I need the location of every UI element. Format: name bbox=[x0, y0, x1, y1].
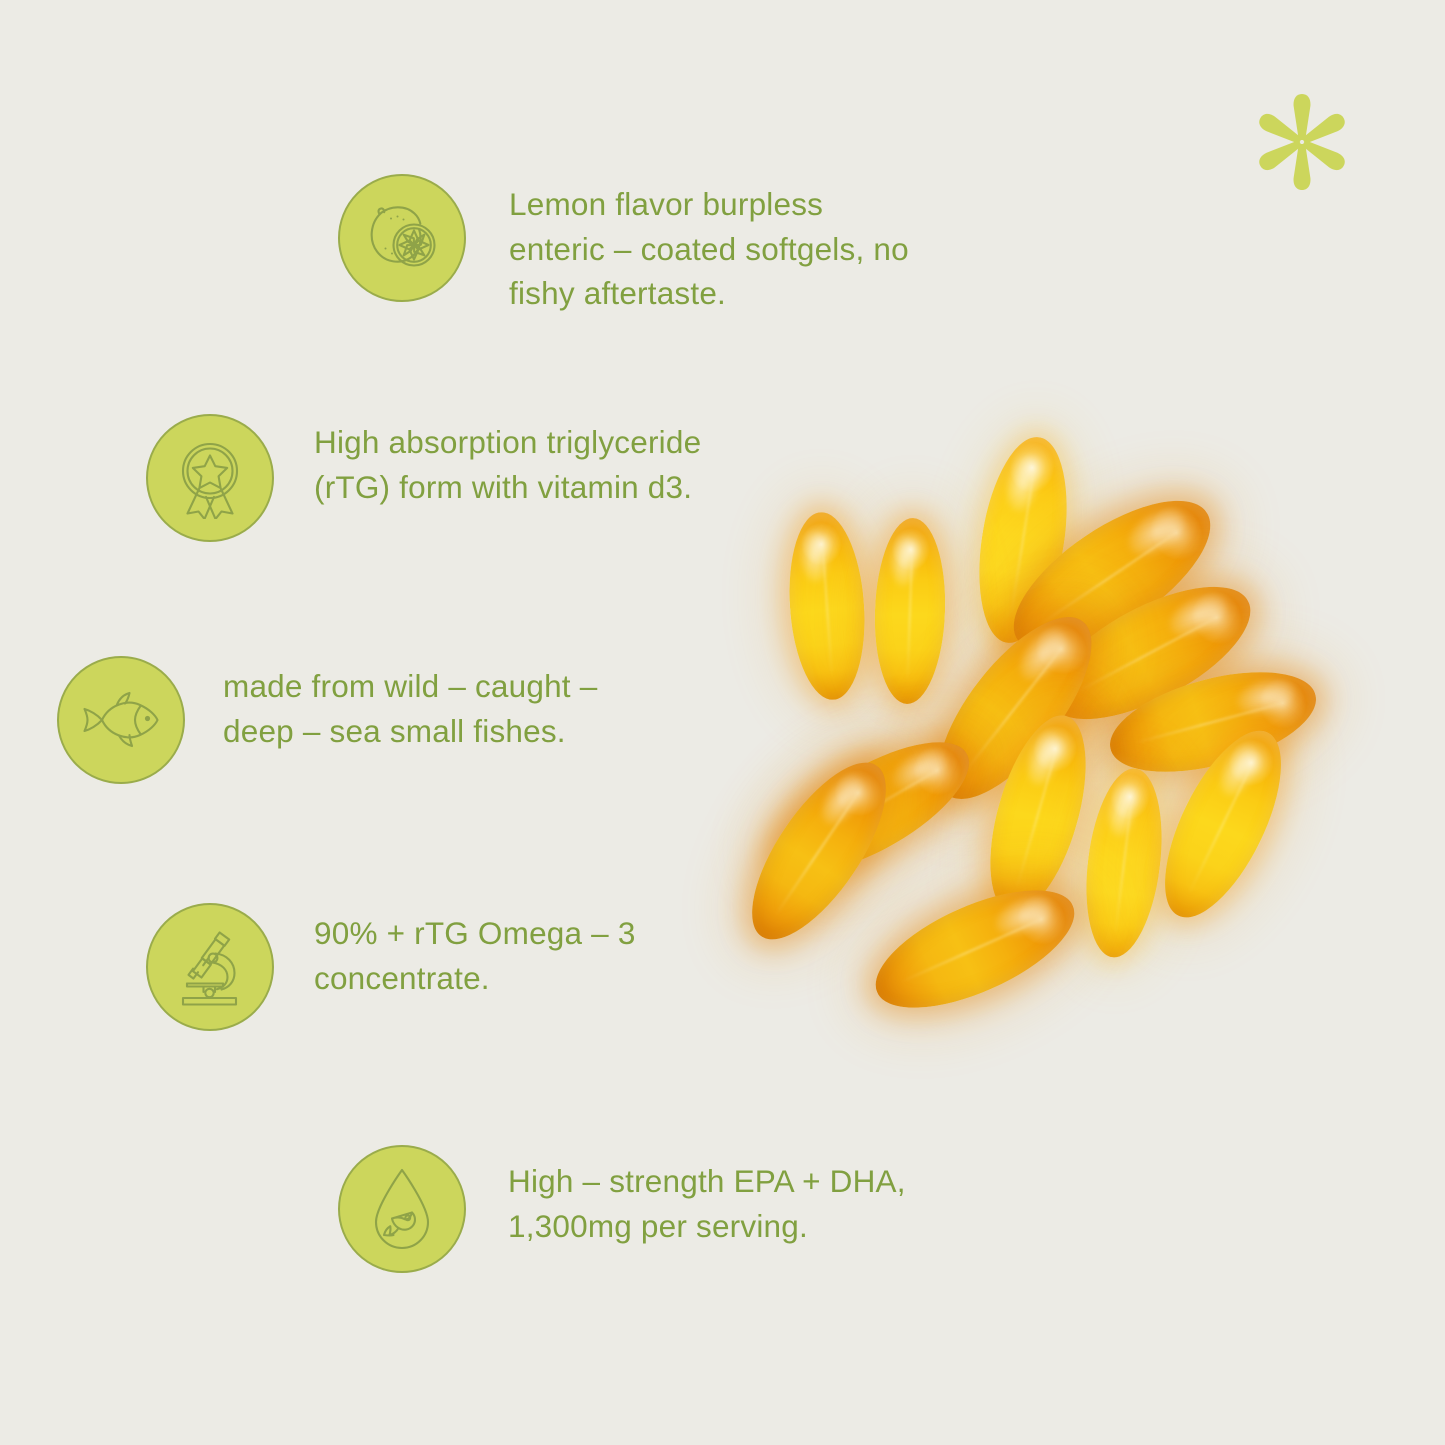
feature-item-epa-dha-strength: High – strength EPA + DHA, 1,300mg per s… bbox=[338, 1145, 906, 1273]
feature-icon-badge bbox=[146, 903, 274, 1031]
feature-icon-badge bbox=[338, 174, 466, 302]
feature-icon-badge bbox=[146, 414, 274, 542]
droplet-fish-icon bbox=[362, 1165, 442, 1253]
feature-label: 90% + rTG Omega – 3 concentrate. bbox=[314, 911, 636, 1000]
feature-item-wild-caught: made from wild – caught – deep – sea sma… bbox=[57, 656, 597, 784]
softgel-capsule bbox=[784, 510, 871, 703]
feature-icon-badge bbox=[57, 656, 185, 784]
feature-label: Lemon flavor burpless enteric – coated s… bbox=[509, 182, 909, 316]
infographic-canvas: Lemon flavor burpless enteric – coated s… bbox=[0, 0, 1445, 1445]
softgel-capsule bbox=[1077, 764, 1172, 961]
lemon-icon bbox=[360, 196, 444, 280]
softgel-capsule bbox=[727, 743, 910, 960]
feature-label: High – strength EPA + DHA, 1,300mg per s… bbox=[508, 1159, 906, 1248]
fish-icon bbox=[77, 682, 165, 758]
feature-label: High absorption triglyceride (rTG) form … bbox=[314, 420, 701, 509]
omega-3-softgel-capsules bbox=[770, 430, 1380, 1030]
softgel-capsule bbox=[872, 517, 948, 705]
feature-item-high-absorption: High absorption triglyceride (rTG) form … bbox=[146, 414, 701, 542]
feature-label: made from wild – caught – deep – sea sma… bbox=[223, 664, 597, 753]
feature-icon-badge bbox=[338, 1145, 466, 1273]
award-medal-icon bbox=[169, 437, 251, 519]
asterisk-flower-icon bbox=[1246, 86, 1358, 198]
feature-item-rtg-concentrate: 90% + rTG Omega – 3 concentrate. bbox=[146, 903, 636, 1031]
feature-item-lemon-flavor: Lemon flavor burpless enteric – coated s… bbox=[338, 174, 909, 316]
microscope-icon bbox=[169, 926, 251, 1008]
softgel-capsule bbox=[860, 866, 1090, 1032]
